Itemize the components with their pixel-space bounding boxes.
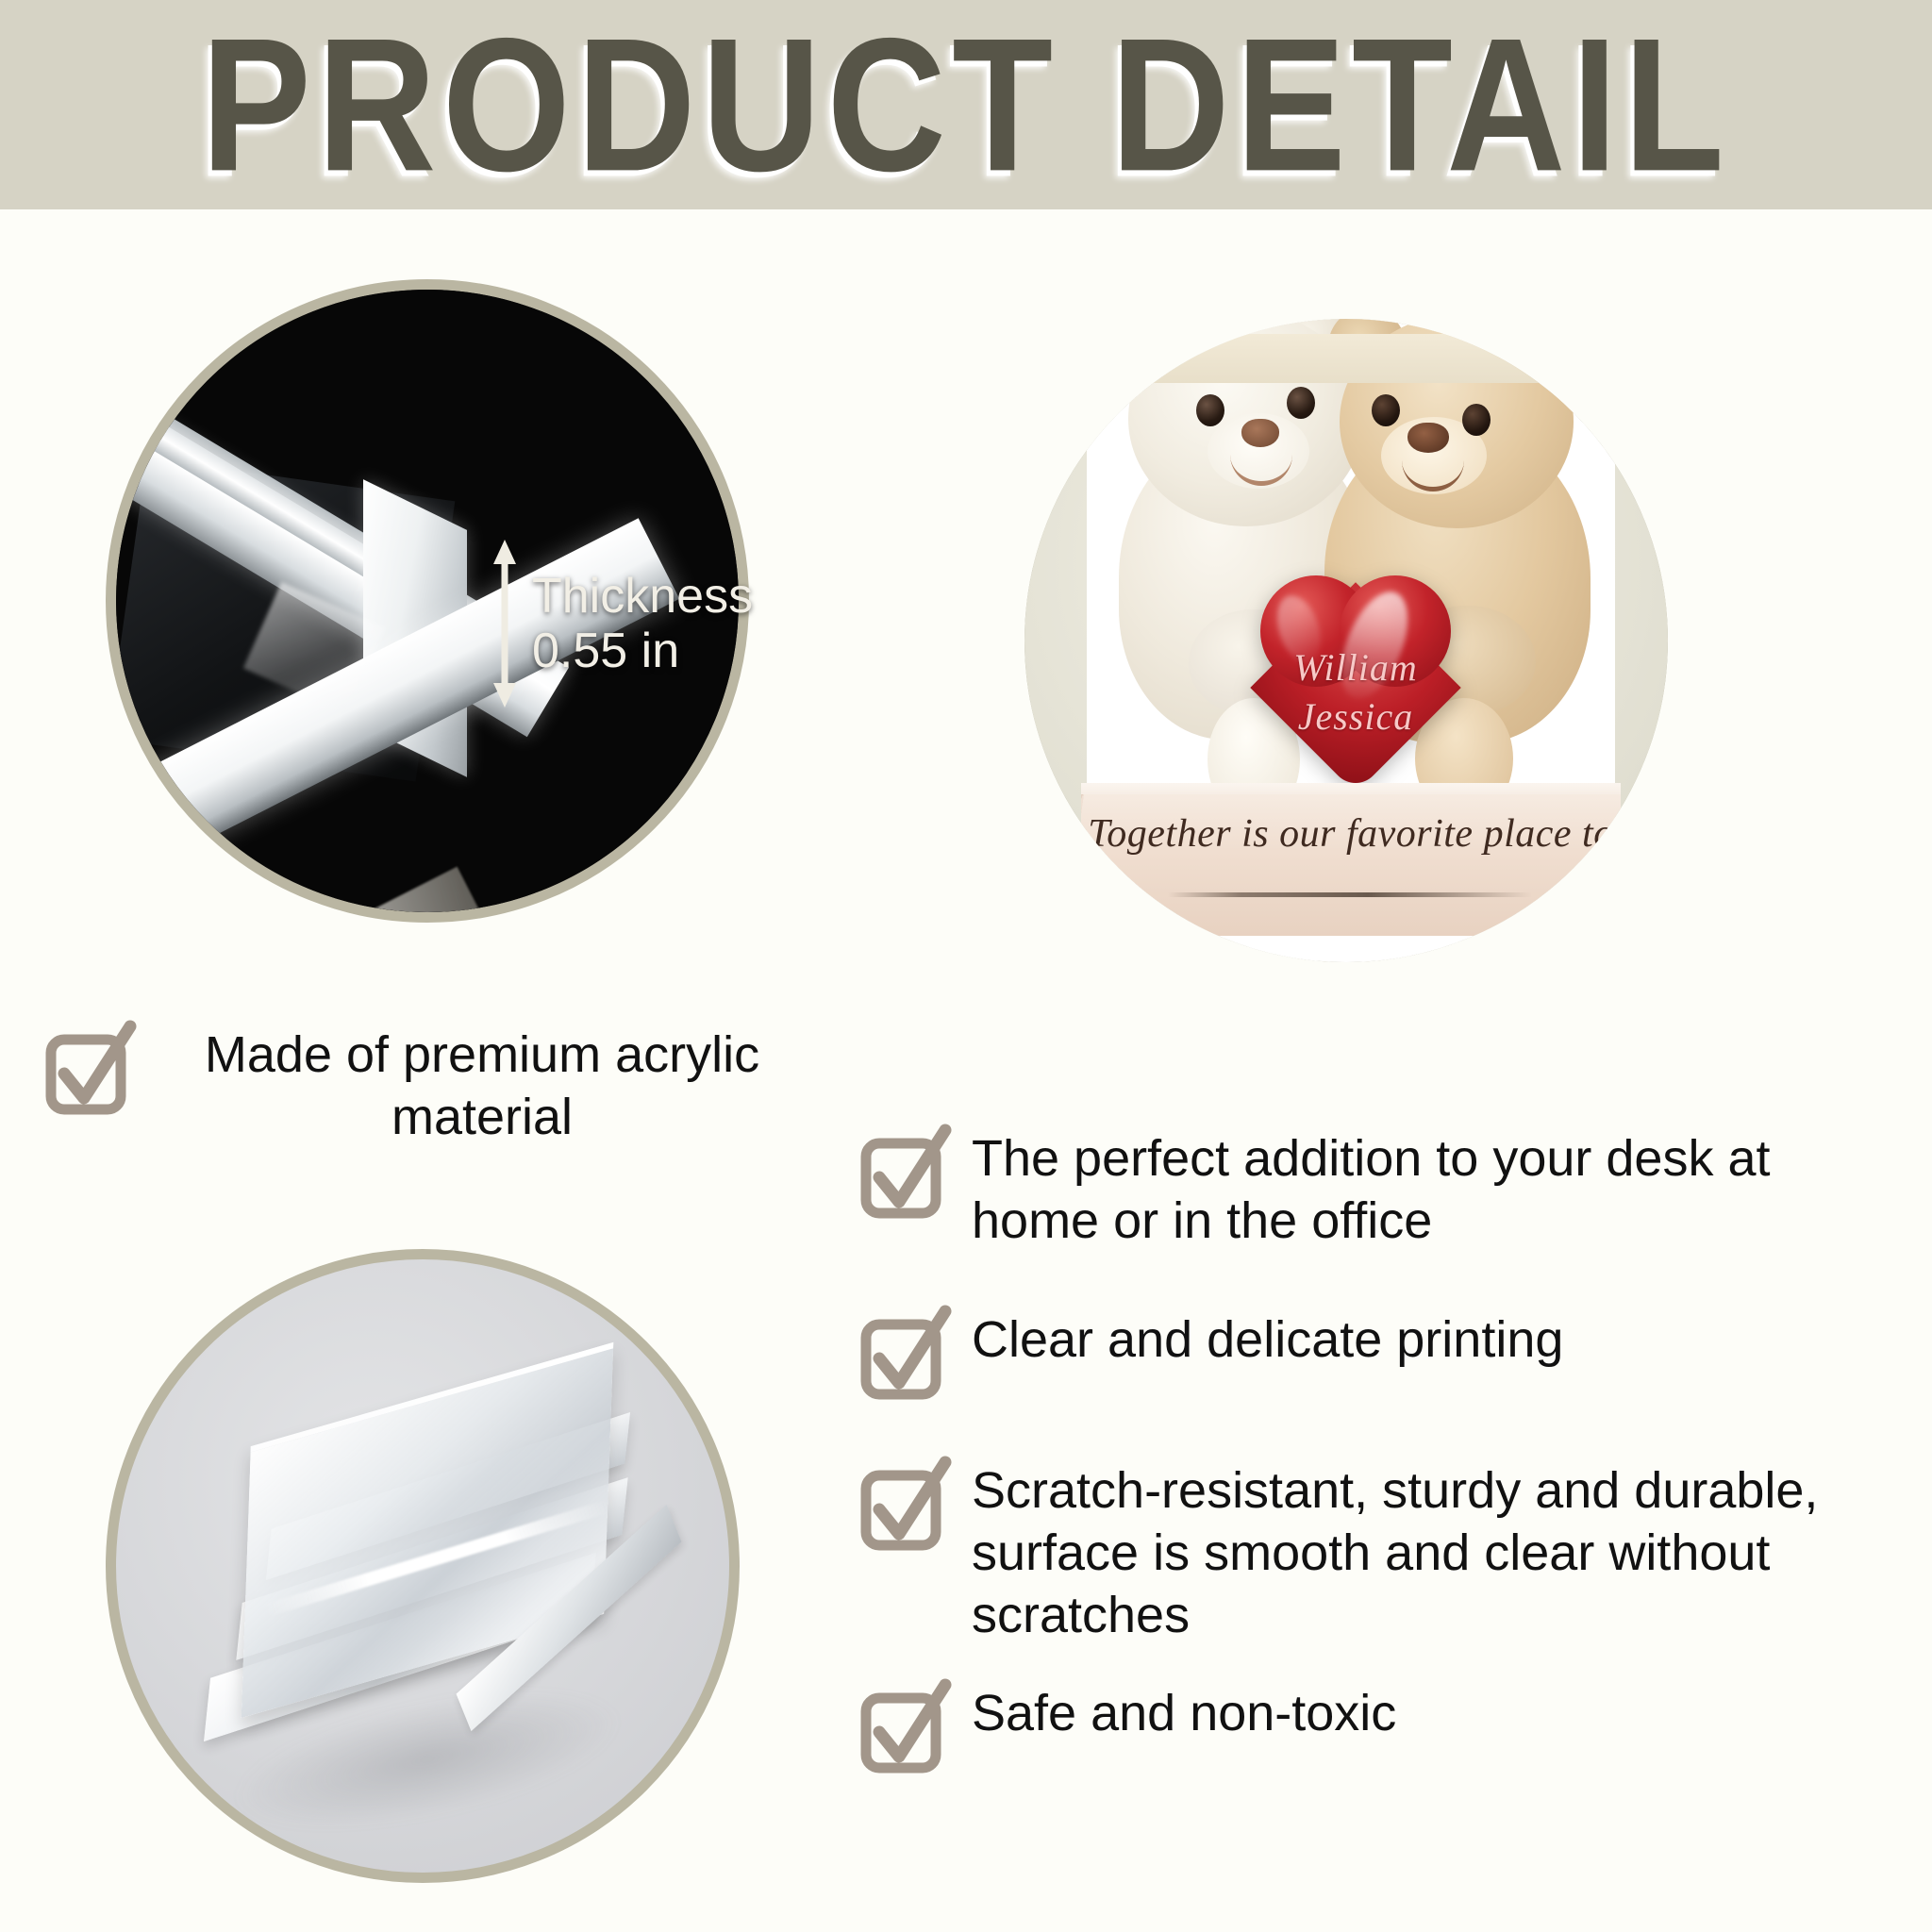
product-detail-infographic: PRODUCT DETAIL Thickness 0.55 in <box>0 0 1932 1932</box>
page-title: PRODUCT DETAIL <box>202 9 1731 199</box>
checkbox-checked-icon <box>860 1313 947 1400</box>
thickness-label-line2: 0.55 in <box>532 624 753 678</box>
bullet-item-desk: The perfect addition to your desk at hom… <box>860 1128 1907 1253</box>
bullet-label: Made of premium acrylic material <box>157 1024 808 1149</box>
acrylic-bottom-tail <box>264 867 488 923</box>
thickness-label: Thickness 0.55 in <box>532 569 753 678</box>
double-arrow-icon <box>492 540 517 708</box>
checkbox-checked-icon <box>45 1028 132 1115</box>
teddy-photo-clip: William Jessica Together is our favorite… <box>1024 319 1668 962</box>
marble-base-foot <box>1134 334 1577 383</box>
checkbox-checked-icon <box>860 1132 947 1219</box>
bullet-label: Clear and delicate printing <box>972 1309 1563 1372</box>
engraved-heart: William Jessica <box>1257 574 1455 768</box>
header-band: PRODUCT DETAIL <box>0 0 1932 209</box>
thickness-annotation: Thickness 0.55 in <box>492 540 753 708</box>
product-photo-card: William Jessica Together is our favorite… <box>1087 319 1615 962</box>
bullet-label: Scratch-resistant, sturdy and durable, s… <box>972 1460 1907 1647</box>
bullet-item-safe: Safe and non-toxic <box>860 1683 1907 1774</box>
right-bear-eye-left <box>1372 394 1400 426</box>
left-bear-eye-right <box>1287 387 1315 419</box>
bullet-item-acrylic: Made of premium acrylic material <box>45 1024 809 1149</box>
right-bear-eye-right <box>1462 404 1491 436</box>
bullet-item-printing: Clear and delicate printing <box>860 1309 1907 1400</box>
engraved-name-second: Jessica <box>1257 694 1455 739</box>
teddy-bear-photo-circle: William Jessica Together is our favorite… <box>1024 319 1668 962</box>
left-bear-eye-left <box>1196 394 1224 426</box>
acrylic-sheets-photo-circle <box>106 1249 740 1883</box>
engraved-name-first: William <box>1257 645 1455 690</box>
bullet-item-scratch: Scratch-resistant, sturdy and durable, s… <box>860 1460 1907 1647</box>
checkbox-checked-icon <box>860 1464 947 1551</box>
base-divider-line <box>1168 892 1532 897</box>
thickness-label-line1: Thickness <box>532 569 753 624</box>
checkbox-checked-icon <box>860 1687 947 1774</box>
acrylic-plate-large <box>241 1342 614 1718</box>
right-bear-nose <box>1407 423 1449 453</box>
left-bear-nose <box>1241 419 1279 447</box>
bullet-label: Safe and non-toxic <box>972 1683 1396 1745</box>
base-script-text: Together is our favorite place to <box>1081 811 1621 857</box>
bullet-label: The perfect addition to your desk at hom… <box>972 1128 1907 1253</box>
marble-base: Together is our favorite place to <box>1081 794 1621 936</box>
teddy-bear-figurine: William Jessica Together is our favorite… <box>1087 319 1615 962</box>
